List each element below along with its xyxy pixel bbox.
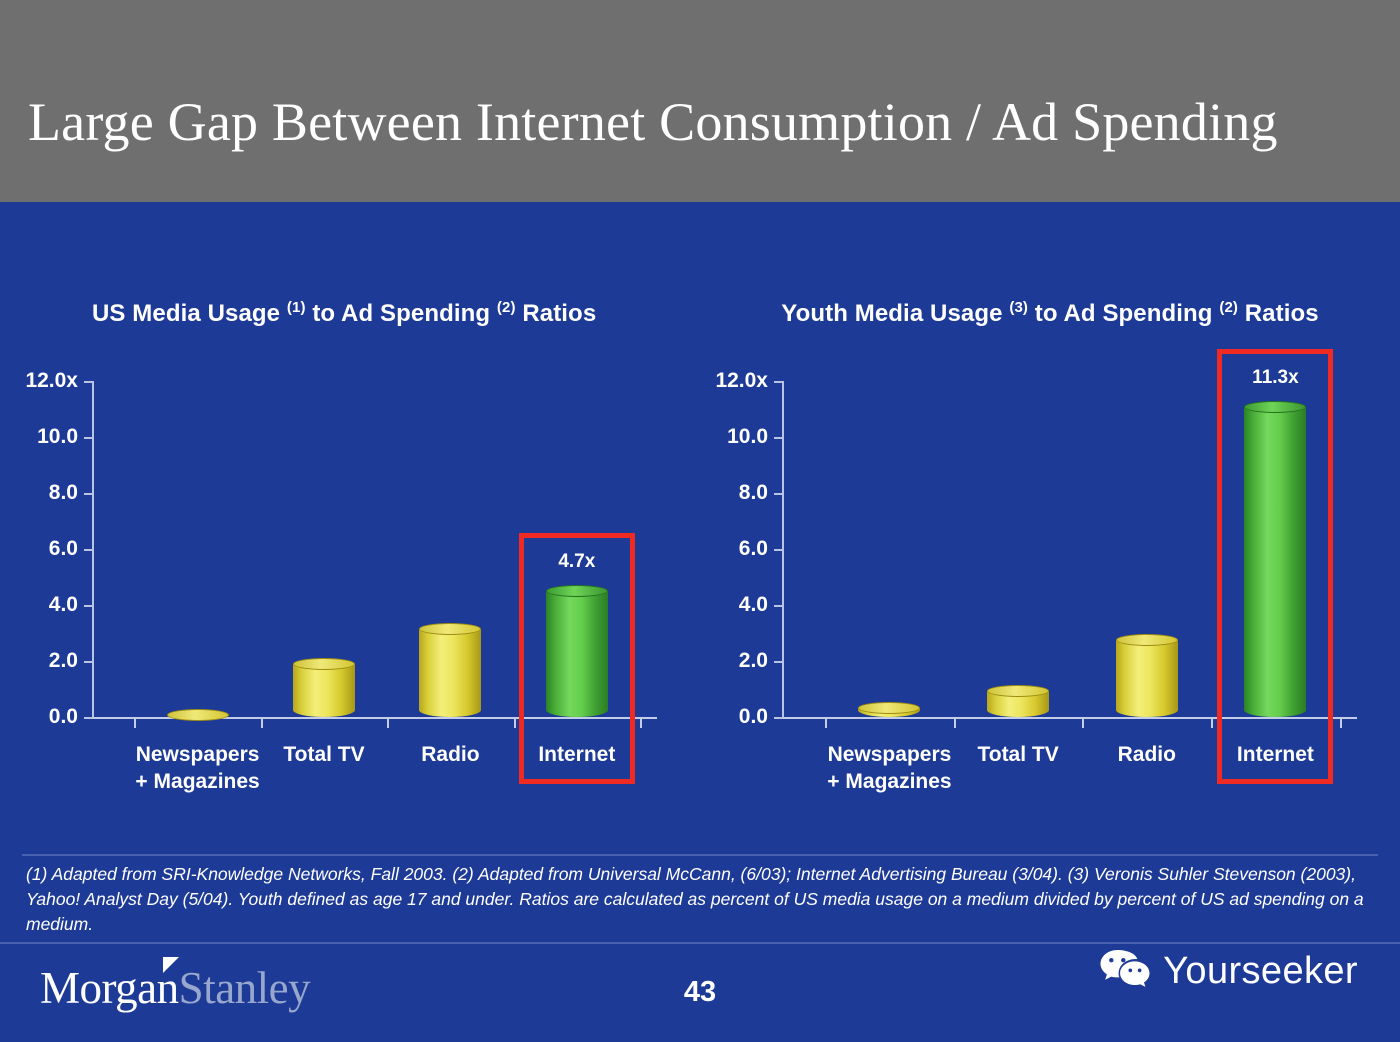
bar-youth-media-usage-0 xyxy=(858,702,920,717)
y-axis-tick xyxy=(774,717,783,719)
x-axis-tick xyxy=(640,719,642,728)
y-axis-tick-label: 4.0 xyxy=(49,593,78,617)
y-axis-tick-label: 0.0 xyxy=(739,705,768,729)
x-axis-category-label: Radio xyxy=(1118,741,1176,768)
x-axis-category-label: Internet xyxy=(1237,741,1314,768)
footnote-marker-2: (2) xyxy=(1219,299,1238,316)
bar-cap xyxy=(987,685,1049,697)
page-title: Large Gap Between Internet Consumption /… xyxy=(28,92,1378,152)
chart-title-text-b: to Ad Spending xyxy=(1028,300,1219,327)
y-axis-tick-label: 10.0 xyxy=(37,425,78,449)
bar-body xyxy=(293,664,355,717)
bar-cap xyxy=(167,709,229,721)
bar-us-media-usage-0 xyxy=(167,709,229,717)
bar-youth-media-usage-2 xyxy=(1116,634,1178,717)
x-axis-category-label: Radio xyxy=(421,741,479,768)
y-axis-tick xyxy=(774,493,783,495)
y-axis-tick-label: 2.0 xyxy=(49,649,78,673)
x-axis-tick xyxy=(954,719,956,728)
x-axis-tick xyxy=(387,719,389,728)
y-axis-tick xyxy=(774,437,783,439)
footnote-marker-1: (1) xyxy=(287,299,306,316)
x-axis-tick xyxy=(1211,719,1213,728)
y-axis-tick xyxy=(774,549,783,551)
y-axis-tick-label: 2.0 xyxy=(739,649,768,673)
slide-footer: MorganStanley 43 Yourseeker xyxy=(0,944,1400,1042)
y-axis-tick-label: 8.0 xyxy=(49,481,78,505)
plot-area-us-media-usage: 0.02.04.06.08.010.012.0xNewspapers + Mag… xyxy=(92,381,657,717)
wechat-icon xyxy=(1099,948,1151,995)
y-axis-tick-label: 0.0 xyxy=(49,705,78,729)
x-axis-category-label: Newspapers + Magazines xyxy=(135,741,259,795)
bar-cap xyxy=(858,702,920,714)
y-axis-tick-label: 6.0 xyxy=(49,537,78,561)
chart-title-youth-media-usage: Youth Media Usage (3) to Ad Spending (2)… xyxy=(700,290,1400,332)
y-axis-tick-label: 12.0x xyxy=(715,369,768,393)
y-axis-tick xyxy=(84,381,93,383)
y-axis-tick-label: 10.0 xyxy=(727,425,768,449)
bar-cap xyxy=(1244,401,1306,413)
bar-body xyxy=(1116,640,1178,717)
y-axis-tick xyxy=(84,717,93,719)
y-axis-tick-label: 8.0 xyxy=(739,481,768,505)
y-axis-tick xyxy=(84,605,93,607)
bar-body xyxy=(419,629,481,717)
slide-body: US Media Usage (1) to Ad Spending (2) Ra… xyxy=(0,202,1400,1042)
y-axis-tick xyxy=(774,381,783,383)
brand-watermark: Yourseeker xyxy=(1099,948,1358,995)
footnote-divider-top xyxy=(22,854,1378,856)
x-axis-tick xyxy=(261,719,263,728)
plot-area-youth-media-usage: 0.02.04.06.08.010.012.0xNewspapers + Mag… xyxy=(782,381,1357,717)
y-axis-tick xyxy=(84,437,93,439)
footnote-marker-3: (3) xyxy=(1009,299,1028,316)
chart-title-us-media-usage: US Media Usage (1) to Ad Spending (2) Ra… xyxy=(0,290,700,332)
bar-body xyxy=(546,591,608,717)
y-axis-tick-label: 6.0 xyxy=(739,537,768,561)
x-axis-tick xyxy=(1082,719,1084,728)
bar-value-label: 11.3x xyxy=(1252,367,1299,389)
x-axis-line xyxy=(782,717,1357,719)
bar-us-media-usage-3 xyxy=(546,585,608,717)
chart-panel-youth-media-usage: Youth Media Usage (3) to Ad Spending (2)… xyxy=(700,202,1400,822)
x-axis-category-label: Total TV xyxy=(977,741,1058,768)
x-axis-tick xyxy=(514,719,516,728)
chart-title-text-a: Youth Media Usage xyxy=(781,300,1009,327)
x-axis-tick xyxy=(1340,719,1342,728)
bar-youth-media-usage-1 xyxy=(987,685,1049,717)
chart-title-text-a: US Media Usage xyxy=(92,300,287,327)
bar-value-label: 4.7x xyxy=(558,551,595,573)
bar-us-media-usage-1 xyxy=(293,658,355,717)
y-axis-tick xyxy=(774,661,783,663)
x-axis-category-label: Internet xyxy=(538,741,615,768)
y-axis-tick xyxy=(84,549,93,551)
y-axis-tick xyxy=(774,605,783,607)
x-axis-tick xyxy=(825,719,827,728)
morgan-stanley-triangle-icon xyxy=(163,957,179,973)
chart-title-text-c: Ratios xyxy=(516,300,597,327)
bar-youth-media-usage-3 xyxy=(1244,401,1306,717)
chart-title-text-c: Ratios xyxy=(1238,300,1319,327)
y-axis-tick xyxy=(84,493,93,495)
brand-name: Yourseeker xyxy=(1163,950,1358,993)
footnote-text: (1) Adapted from SRI-Knowledge Networks,… xyxy=(26,862,1378,937)
bar-body xyxy=(1244,407,1306,717)
y-axis-tick-label: 4.0 xyxy=(739,593,768,617)
x-axis-tick xyxy=(134,719,136,728)
x-axis-category-label: Newspapers + Magazines xyxy=(827,741,951,795)
chart-title-text-b: to Ad Spending xyxy=(306,300,497,327)
y-axis-tick xyxy=(84,661,93,663)
footnote-marker-2: (2) xyxy=(497,299,516,316)
chart-panel-us-media-usage: US Media Usage (1) to Ad Spending (2) Ra… xyxy=(0,202,700,822)
x-axis-category-label: Total TV xyxy=(283,741,364,768)
y-axis-tick-label: 12.0x xyxy=(25,369,78,393)
bar-us-media-usage-2 xyxy=(419,623,481,717)
